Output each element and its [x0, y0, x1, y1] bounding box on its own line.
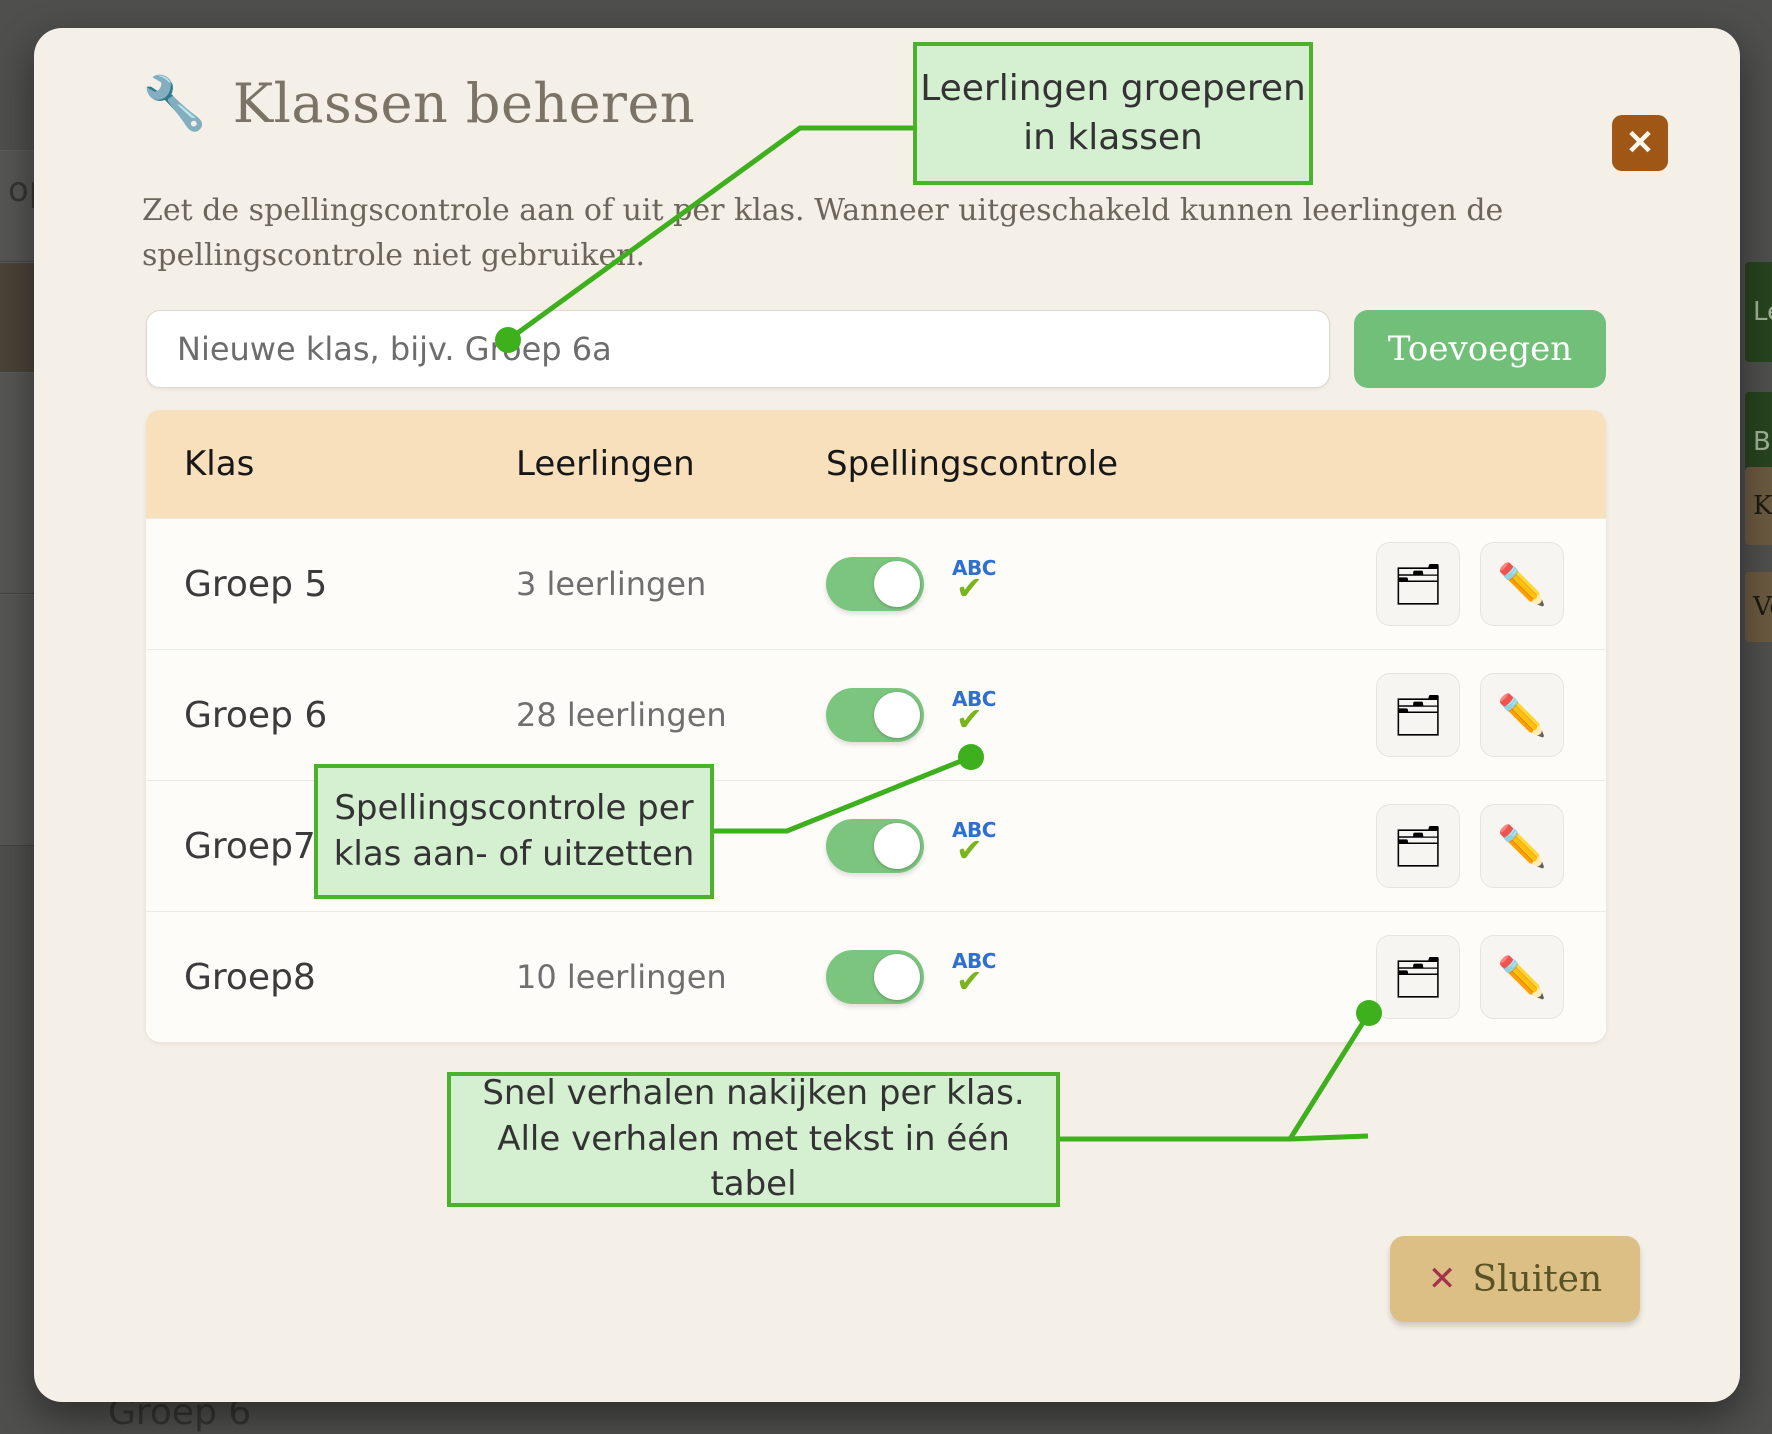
table-header-row: Klas Leerlingen Spellingscontrole — [146, 410, 1606, 518]
annotation-nakijken: Snel verhalen nakijken per klas. Alle ve… — [447, 1072, 1060, 1207]
toggle-knob — [874, 823, 920, 869]
classes-table: Klas Leerlingen Spellingscontrole Groep … — [146, 410, 1606, 1042]
toggle-knob — [874, 954, 920, 1000]
abc-spellcheck-icon: ABC ✔ — [952, 558, 1002, 610]
check-icon: ✔ — [956, 834, 983, 866]
dialog-header: 🔧 Klassen beheren — [142, 72, 695, 135]
check-icon: ✔ — [956, 703, 983, 735]
edit-class-button[interactable]: ✏️ — [1480, 673, 1564, 757]
view-stories-button[interactable]: 🗂 — [1376, 673, 1460, 757]
cell-spellingscontrole: ABC ✔ — [826, 557, 1246, 611]
column-header-leerlingen: Leerlingen — [516, 444, 826, 484]
table-row: Groep 6 28 leerlingen ABC ✔ 🗂 ✏️ — [146, 649, 1606, 780]
cell-actions: 🗂 ✏️ — [1246, 673, 1606, 757]
abc-spellcheck-icon: ABC ✔ — [952, 951, 1002, 1003]
cell-actions: 🗂 ✏️ — [1246, 804, 1606, 888]
spellcheck-toggle[interactable] — [826, 557, 924, 611]
dialog-description: Zet de spellingscontrole aan of uit per … — [142, 188, 1572, 278]
spellcheck-toggle[interactable] — [826, 819, 924, 873]
sluiten-button[interactable]: ✕ Sluiten — [1390, 1236, 1640, 1322]
edit-class-button[interactable]: ✏️ — [1480, 542, 1564, 626]
cell-leerlingen: 10 leerlingen — [516, 958, 826, 996]
abc-spellcheck-icon: ABC ✔ — [952, 820, 1002, 872]
cell-spellingscontrole: ABC ✔ — [826, 950, 1246, 1004]
page-title: Klassen beheren — [233, 72, 695, 135]
toggle-knob — [874, 561, 920, 607]
abc-spellcheck-icon: ABC ✔ — [952, 689, 1002, 741]
column-header-spellingscontrole: Spellingscontrole — [826, 444, 1246, 484]
edit-class-button[interactable]: ✏️ — [1480, 935, 1564, 1019]
view-stories-button[interactable]: 🗂 — [1376, 542, 1460, 626]
add-class-row: Toevoegen — [146, 310, 1606, 388]
spellcheck-toggle[interactable] — [826, 950, 924, 1004]
cell-actions: 🗂 ✏️ — [1246, 542, 1606, 626]
view-stories-button[interactable]: 🗂 — [1376, 804, 1460, 888]
column-header-klas: Klas — [146, 444, 516, 484]
edit-class-button[interactable]: ✏️ — [1480, 804, 1564, 888]
cell-actions: 🗂 ✏️ — [1246, 935, 1606, 1019]
cell-klas: Groep 5 — [146, 564, 516, 605]
screenshot-root: op Le Be Kla Ve Groep 6 🔧 Klassen behere… — [0, 0, 1772, 1434]
background-chip: Ve — [1745, 572, 1772, 642]
cell-leerlingen: 28 leerlingen — [516, 696, 826, 734]
check-icon: ✔ — [956, 572, 983, 604]
background-chip: Le — [1745, 262, 1772, 362]
check-icon: ✔ — [956, 965, 983, 997]
add-class-button[interactable]: Toevoegen — [1354, 310, 1606, 388]
background-chip: Kla — [1745, 467, 1772, 545]
cell-leerlingen: 3 leerlingen — [516, 565, 826, 603]
toggle-knob — [874, 692, 920, 738]
cell-klas: Groep 6 — [146, 695, 516, 736]
spellcheck-toggle[interactable] — [826, 688, 924, 742]
close-x-icon: ✕ — [1428, 1259, 1457, 1299]
table-row: Groep 5 3 leerlingen ABC ✔ 🗂 ✏️ — [146, 518, 1606, 649]
close-icon-button[interactable]: ✕ — [1612, 115, 1668, 171]
view-stories-button[interactable]: 🗂 — [1376, 935, 1460, 1019]
cell-spellingscontrole: ABC ✔ — [826, 819, 1246, 873]
sluiten-label: Sluiten — [1472, 1259, 1602, 1300]
annotation-groeperen: Leerlingen groeperen in klassen — [913, 42, 1313, 185]
annotation-toggle: Spellingscontrole per klas aan- of uitze… — [314, 764, 714, 899]
cell-spellingscontrole: ABC ✔ — [826, 688, 1246, 742]
cell-klas: Groep8 — [146, 957, 516, 998]
new-class-input[interactable] — [146, 310, 1330, 388]
wrench-icon: 🔧 — [142, 78, 207, 130]
table-row: Groep8 10 leerlingen ABC ✔ 🗂 ✏️ — [146, 911, 1606, 1042]
